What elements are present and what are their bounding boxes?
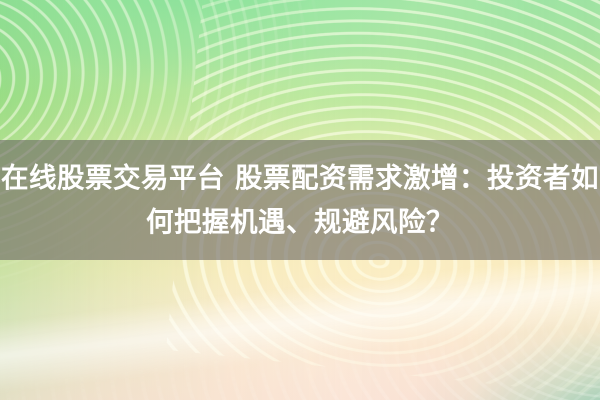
- headline-line-1: 在线股票交易平台 股票配资需求激增：投资者如: [1, 156, 599, 200]
- headline-overlay-band: 在线股票交易平台 股票配资需求激增：投资者如 何把握机遇、规避风险？: [0, 140, 600, 260]
- article-header-banner: 在线股票交易平台 股票配资需求激增：投资者如 何把握机遇、规避风险？: [0, 0, 600, 400]
- headline-line-2: 何把握机遇、规避风险？: [146, 200, 454, 244]
